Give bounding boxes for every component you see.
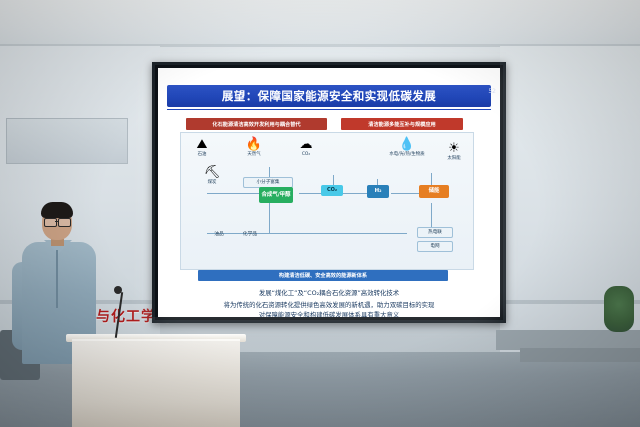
desk: [496, 330, 640, 350]
speaker-glasses-left: [44, 218, 57, 227]
cloud-icon: ☁ CO₂: [291, 135, 321, 165]
slide-page-number: 52: [488, 88, 496, 95]
node-hydrogen: H₂: [367, 185, 389, 198]
microphone-head: [114, 286, 122, 294]
podium: ✿: [72, 339, 240, 427]
node-syngas: 合成气/甲醇: [259, 187, 293, 203]
desk-lower: [520, 348, 640, 362]
coal-mine-icon-label: 煤炭: [197, 180, 227, 186]
gas-icon-glyph: 🔥: [239, 135, 269, 152]
gas-icon: 🔥 天然气: [239, 135, 269, 165]
plant: [604, 286, 634, 332]
node-heat-power: 热电联: [417, 227, 453, 238]
slide-caption-2: 将为传统的化石资源转化提供绿色高效发展的新机遇，助力双碳目标的实现: [158, 300, 500, 310]
presentation-slide: 展望：保障国家能源安全和实现低碳发展 52 化石能源清洁高效开发利用与耦合替代 …: [158, 68, 500, 317]
coal-mine-icon: ⛏ 煤炭: [197, 163, 227, 193]
slide-body: 化石能源清洁高效开发利用与耦合替代 清洁能源多能互补与规模应用 ⛰ 石油 🔥 天…: [158, 112, 500, 317]
hydro-icon-glyph: 💧: [377, 135, 437, 152]
coal-icon: ⛰ 石油: [187, 135, 217, 165]
diagram-summary-text: 构建清洁低碳、安全高效的能源新体系: [279, 272, 367, 279]
coal-icon-label: 石油: [187, 152, 217, 158]
section-header-fossil-label: 化石能源清洁高效开发利用与耦合替代: [212, 121, 300, 128]
slide-caption-1: 发展“煤化工”及“CO₂耦合石化资源”高效转化技术: [158, 288, 500, 298]
coal-mine-icon-glyph: ⛏: [197, 163, 227, 180]
projection-screen: 展望：保障国家能源安全和实现低碳发展 52 化石能源清洁高效开发利用与耦合替代 …: [152, 62, 506, 323]
coal-icon-glyph: ⛰: [187, 135, 217, 152]
connector-line: [269, 203, 270, 233]
wall-panel: [6, 118, 128, 164]
cloud-icon-label: CO₂: [291, 152, 321, 158]
node-refined-oil: 油品: [207, 231, 231, 239]
section-header-fossil: 化石能源清洁高效开发利用与耦合替代: [186, 118, 327, 130]
lecture-hall-photo: 化学与化工学院 展望：保障国家能源安全和实现低碳发展 52 化石能源清洁高效开发…: [0, 0, 640, 427]
node-co2: CO₂: [321, 185, 343, 196]
solar-icon: ☀ 太阳能: [439, 139, 469, 169]
node-storage: 储能: [419, 185, 449, 198]
diagram-summary-band: 构建清洁低碳、安全高效的能源新体系: [198, 270, 448, 281]
section-header-clean: 清洁能源多能互补与规模应用: [341, 118, 463, 130]
slide-title-bar: 展望：保障国家能源安全和实现低碳发展: [167, 85, 491, 107]
speaker-hair: [41, 202, 73, 218]
slide-caption-3: 对保障能源安全和构建低碳发展体系具有重大意义: [158, 310, 500, 317]
section-header-clean-label: 清洁能源多能互补与规模应用: [368, 121, 435, 128]
hydro-icon-label: 水电/光/热/生物质: [377, 152, 437, 158]
hydro-icon: 💧 水电/光/热/生物质: [377, 135, 437, 165]
node-power-grid: 电网: [417, 241, 453, 252]
node-chemicals: 化学品: [235, 231, 265, 239]
solar-icon-label: 太阳能: [439, 156, 469, 162]
speaker-glasses-bridge: [55, 221, 58, 222]
diagram-source-icons: ⛰ 石油 🔥 天然气 ⛏ 煤炭 ☁ CO₂: [181, 133, 473, 167]
solar-icon-glyph: ☀: [439, 139, 469, 156]
speaker-shirt-placket: [56, 250, 58, 308]
slide-title: 展望：保障国家能源安全和实现低碳发展: [222, 88, 436, 104]
gas-icon-label: 天然气: [239, 152, 269, 158]
slide-top-margin: [158, 68, 500, 85]
ceiling: [0, 0, 640, 46]
cloud-icon-glyph: ☁: [291, 135, 321, 152]
speaker-glasses-right: [58, 218, 71, 227]
title-underline: [167, 109, 491, 110]
energy-flow-diagram: ⛰ 石油 🔥 天然气 ⛏ 煤炭 ☁ CO₂: [180, 132, 474, 270]
